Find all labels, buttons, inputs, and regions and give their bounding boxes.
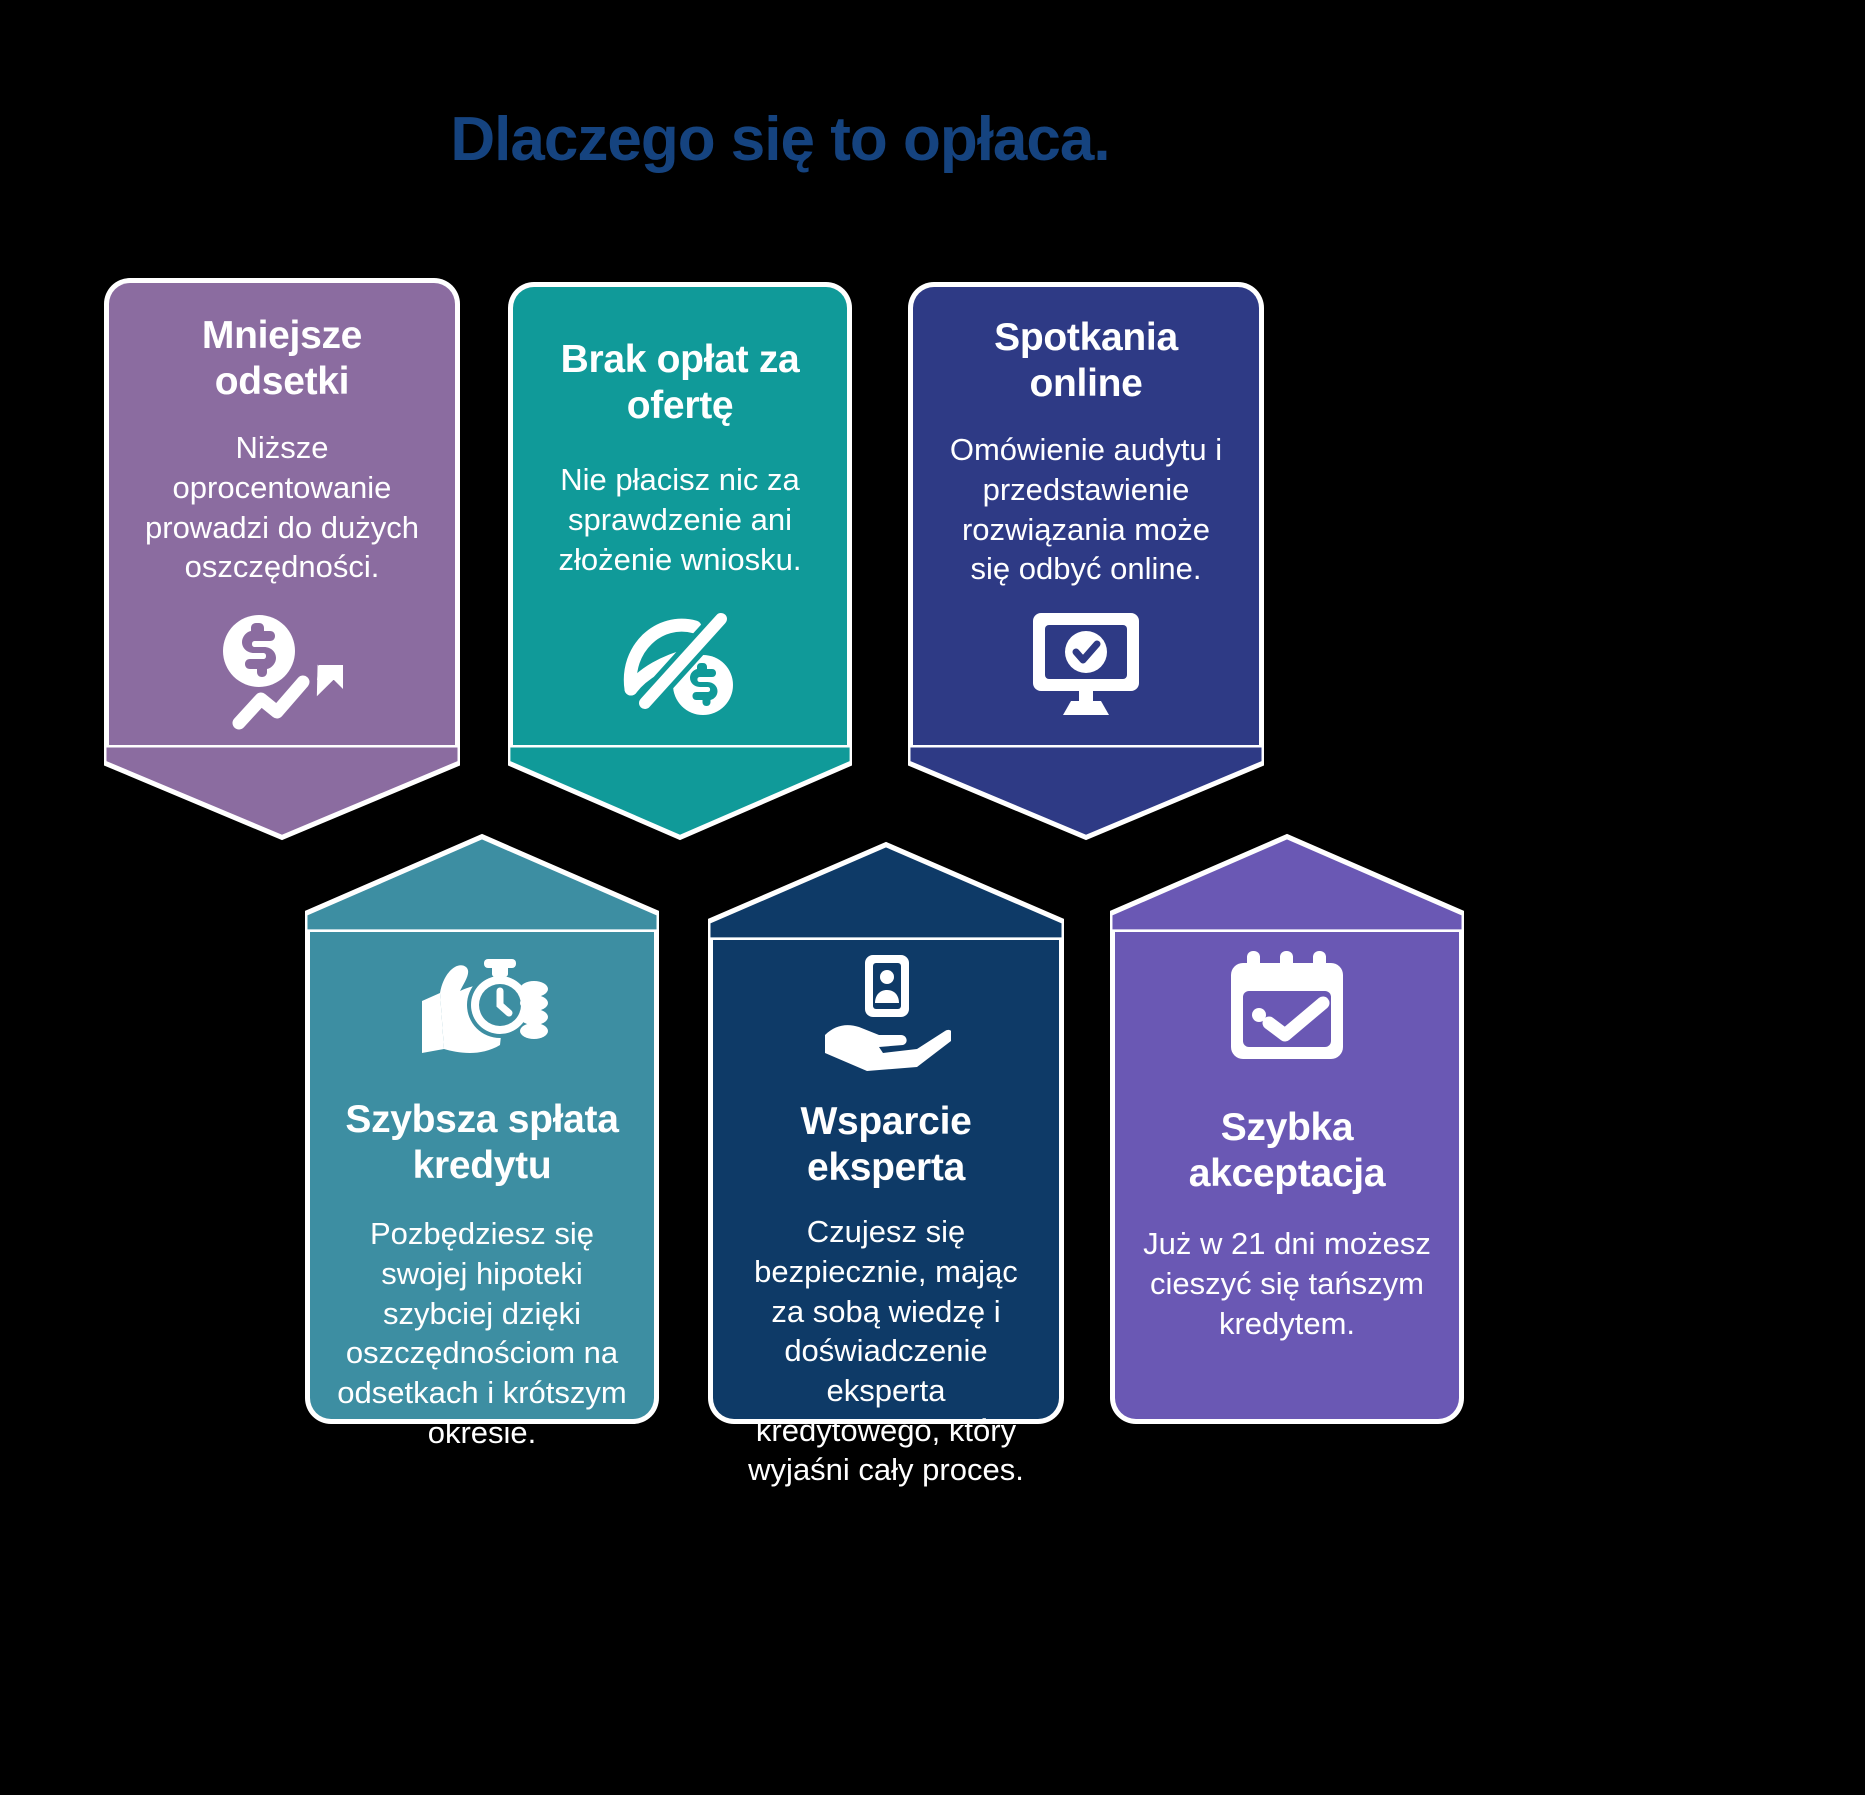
benefit-card-body: Omówienie audytu i przedstawienie rozwią… xyxy=(939,430,1233,589)
benefit-card-wsparcie-eksperta[interactable]: Wsparcie eksperta Czujesz się bezpieczni… xyxy=(708,937,1064,1424)
benefit-card-body: Niższe oprocentowanie prowadzi do dużych… xyxy=(135,428,429,587)
no-fee-crossed-coin-icon xyxy=(615,603,745,721)
benefit-card-body: Pozbędziesz się swojej hipoteki szybciej… xyxy=(336,1214,628,1452)
card-top-chevron xyxy=(708,841,1064,940)
card-bottom-chevron xyxy=(908,745,1264,841)
calendar-check-icon xyxy=(1225,949,1349,1063)
hand-holding-id-card-icon xyxy=(821,953,951,1073)
infographic-canvas: Dlaczego się to opłaca. Mniejsze odsetki… xyxy=(0,0,1865,1795)
benefit-card-title: Szybka akceptacja xyxy=(1141,1105,1433,1196)
benefit-card-title: Mniejsze odsetki xyxy=(135,313,429,404)
card-top-chevron xyxy=(1110,833,1464,932)
benefit-card-body: Czujesz się bezpiecznie, mając za sobą w… xyxy=(739,1212,1033,1490)
page-title: Dlaczego się to opłaca. xyxy=(0,104,1560,175)
benefit-card-body: Nie płacisz nic za sprawdzenie ani złoże… xyxy=(539,460,821,579)
benefit-card-spotkania-online[interactable]: Spotkania online Omówienie audytu i prze… xyxy=(908,282,1264,748)
benefit-card-szybsza-splata[interactable]: Szybsza spłata kredytu Pozbędziesz się s… xyxy=(305,929,659,1424)
card-bottom-chevron xyxy=(104,745,460,841)
hand-stopwatch-coins-icon xyxy=(414,953,550,1065)
benefit-card-title: Szybsza spłata kredytu xyxy=(336,1097,628,1188)
benefit-card-title: Wsparcie eksperta xyxy=(739,1099,1033,1190)
benefit-card-mniejsze-odsetki[interactable]: Mniejsze odsetki Niższe oprocentowanie p… xyxy=(104,278,460,748)
dollar-coin-growth-arrow-icon xyxy=(217,611,347,731)
benefit-card-brak-oplat[interactable]: Brak opłat za ofertę Nie płacisz nic za … xyxy=(508,282,852,748)
benefit-card-title: Brak opłat za ofertę xyxy=(539,337,821,428)
benefit-card-szybka-akceptacja[interactable]: Szybka akceptacja Już w 21 dni możesz ci… xyxy=(1110,929,1464,1424)
benefit-card-body: Już w 21 dni możesz cieszyć się tańszym … xyxy=(1141,1224,1433,1343)
benefit-card-title: Spotkania online xyxy=(939,315,1233,406)
card-top-chevron xyxy=(305,833,659,932)
card-bottom-chevron xyxy=(508,745,852,841)
monitor-check-icon xyxy=(1023,609,1149,721)
